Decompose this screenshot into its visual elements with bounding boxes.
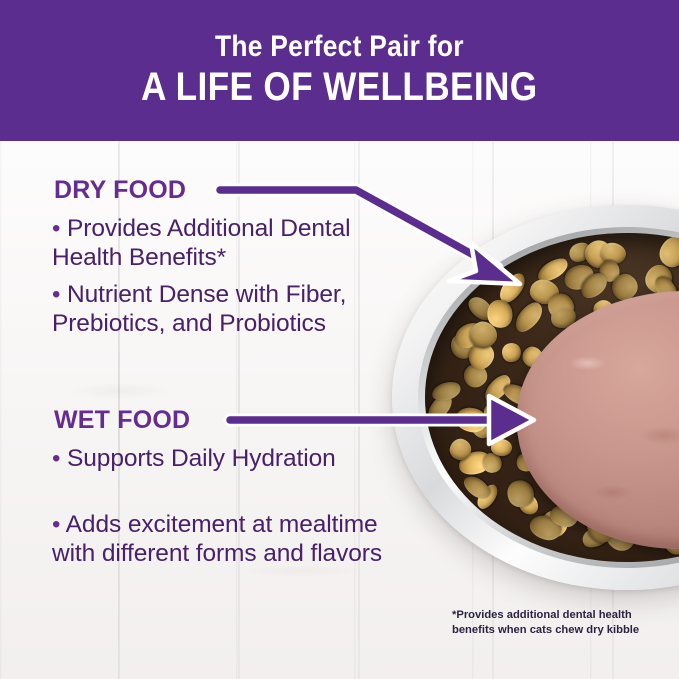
food-bowl-photo xyxy=(392,205,679,590)
list-item: • Adds excitement at mealtime with diffe… xyxy=(52,511,382,568)
header-title: A LIFE OF WELLBEING xyxy=(141,65,537,110)
dry-food-heading: DRY FOOD xyxy=(54,176,186,205)
footnote-disclaimer: *Provides additional dental health benef… xyxy=(452,608,667,638)
list-item: • Provides Additional Dental Health Bene… xyxy=(52,215,382,272)
wet-food-pate xyxy=(517,291,679,549)
bullet-text: Provides Additional Dental Health Benefi… xyxy=(52,215,350,271)
bullet-text: Nutrient Dense with Fiber, Prebiotics, a… xyxy=(52,281,346,337)
bullet-text: Adds excitement at mealtime with differe… xyxy=(52,511,382,567)
bullet-dot: • xyxy=(52,445,60,472)
list-item: • Supports Daily Hydration xyxy=(52,445,382,474)
wet-food-heading: WET FOOD xyxy=(54,406,190,435)
header-banner: The Perfect Pair for A LIFE OF WELLBEING xyxy=(0,0,679,141)
list-item: • Nutrient Dense with Fiber, Prebiotics,… xyxy=(52,281,382,338)
bullet-dot: • xyxy=(52,281,60,308)
bullet-dot: • xyxy=(52,215,60,242)
bullet-dot: • xyxy=(52,511,60,538)
kibble-piece xyxy=(431,379,463,403)
header-subtitle: The Perfect Pair for xyxy=(215,31,464,63)
bullet-text: Supports Daily Hydration xyxy=(67,445,336,472)
promo-poster: The Perfect Pair for A LIFE OF WELLBEING… xyxy=(0,0,679,679)
